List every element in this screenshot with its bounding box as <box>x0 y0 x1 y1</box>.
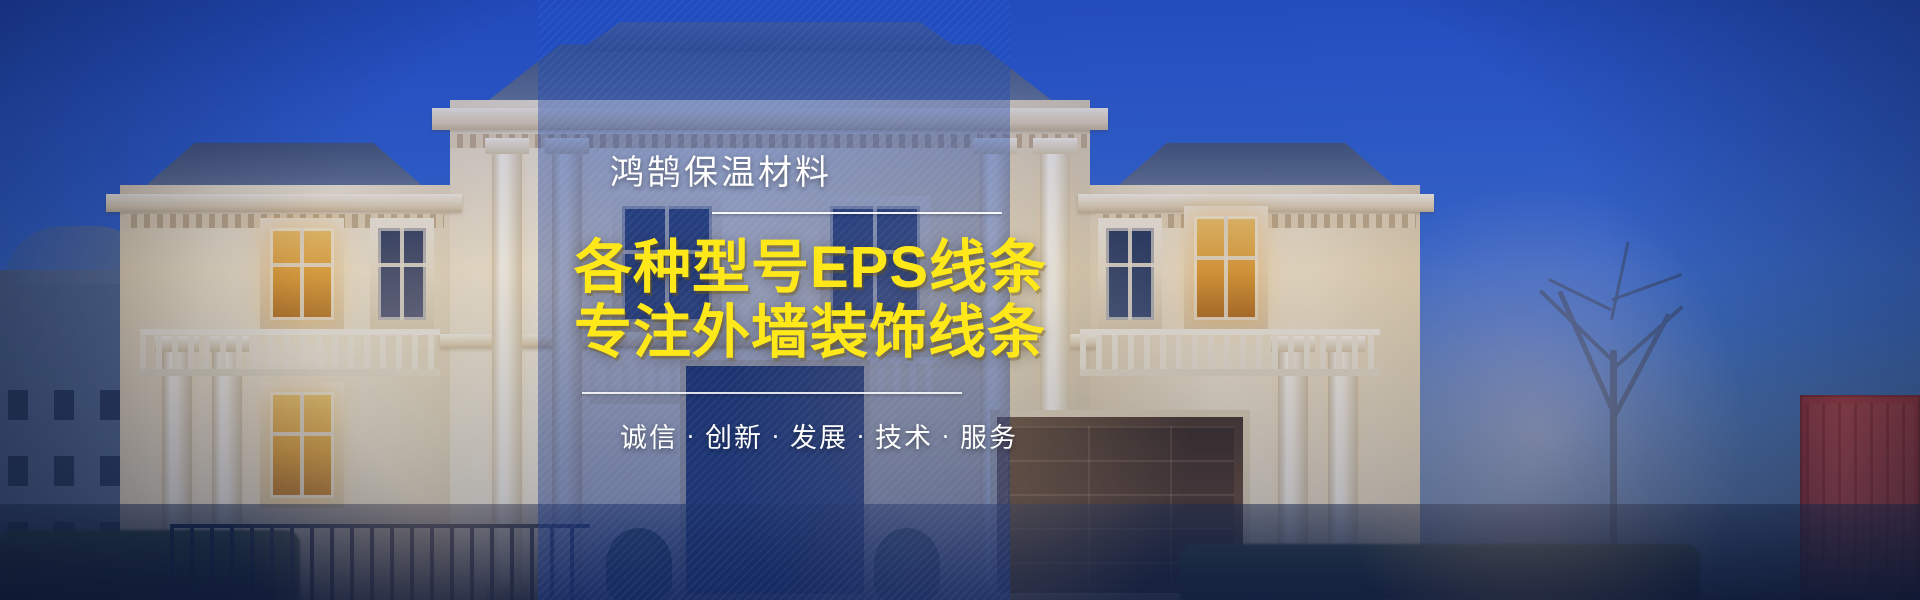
window <box>1106 228 1154 320</box>
lit-window <box>270 392 334 498</box>
headline-line-1: 各种型号EPS线条 <box>574 236 1047 301</box>
tagline-item-4: 技术 <box>875 416 933 455</box>
headline: 各种型号EPS线条 专注外墙装饰线条 <box>574 236 1047 366</box>
balustrade <box>140 329 440 376</box>
headline-line-2: 专注外墙装饰线条 <box>574 301 1047 366</box>
tagline-separator: · <box>856 420 867 451</box>
divider-bottom <box>582 392 962 394</box>
tagline-separator: · <box>941 420 952 451</box>
brand-name: 鸿鹄保温材料 <box>610 145 832 194</box>
hero-banner: 鸿鹄保温材料 各种型号EPS线条 专注外墙装饰线条 诚信 · 创新 · 发展 ·… <box>0 0 1920 600</box>
tagline-item-2: 创新 <box>705 416 763 455</box>
lit-window <box>1194 216 1258 320</box>
divider-top <box>712 212 1002 214</box>
left-wing-cornice <box>106 194 462 212</box>
tagline-separator: · <box>771 420 782 451</box>
tagline: 诚信 · 创新 · 发展 · 技术 · 服务 <box>620 416 1018 455</box>
lit-window <box>270 228 334 320</box>
banner-content: 鸿鹄保温材料 各种型号EPS线条 专注外墙装饰线条 诚信 · 创新 · 发展 ·… <box>538 0 1010 600</box>
tagline-item-5: 服务 <box>960 416 1018 455</box>
tagline-separator: · <box>686 420 697 451</box>
tagline-item-3: 发展 <box>790 416 848 455</box>
tagline-item-1: 诚信 <box>620 416 678 455</box>
balustrade <box>1080 329 1380 376</box>
window <box>378 228 426 320</box>
